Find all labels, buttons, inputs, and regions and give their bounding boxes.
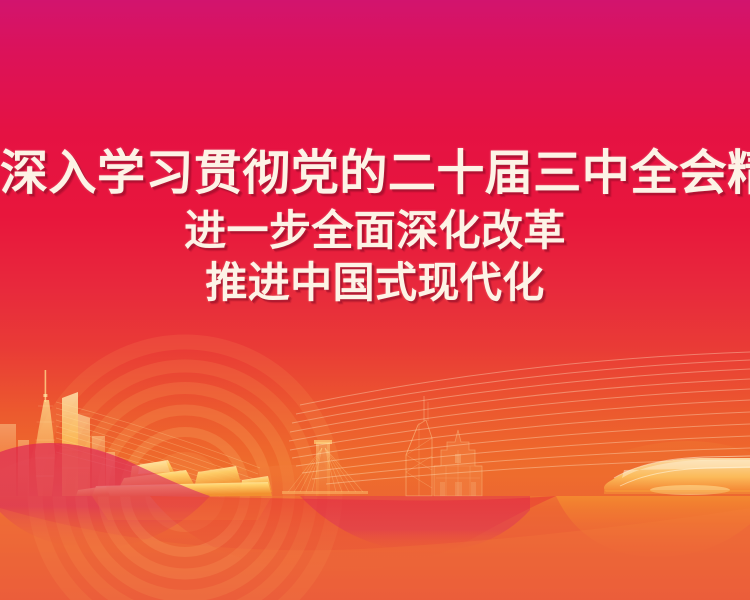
ruins-of-st-pauls-icon — [434, 430, 482, 496]
hill-far-left — [0, 453, 360, 497]
tower-slab-b — [18, 440, 29, 496]
guangzhou-skyline-group — [0, 370, 115, 496]
headline-block: 深入学习贯彻党的二十届三中全会精神 进一步全面深化改革 推进中国式现代化 — [0, 150, 750, 304]
wave-crimson-2 — [300, 496, 530, 552]
headline-line-2: 进一步全面深化改革 — [0, 210, 750, 252]
opera-house-icon — [76, 460, 272, 496]
high-speed-train-icon — [604, 456, 750, 495]
wave-orange — [556, 496, 750, 557]
speed-ribbon-lines-icon — [289, 352, 750, 484]
poster-canvas: 深入学习贯彻党的二十届三中全会精神 进一步全面深化改革 推进中国式现代化 — [0, 0, 750, 600]
headline-line-3: 推进中国式现代化 — [0, 262, 750, 304]
wave-magenta — [0, 443, 210, 548]
cable-stayed-bridge-icon — [282, 440, 368, 496]
ctf-finance-centre-icon — [62, 392, 90, 496]
wave-soft-sheen — [0, 508, 750, 600]
hill-far-right — [360, 441, 750, 497]
tower-slab-d — [106, 452, 115, 496]
wave-reflections — [0, 443, 750, 600]
canton-tower-icon — [35, 370, 55, 496]
tower-slab-c — [92, 436, 105, 496]
headline-line-1: 深入学习贯彻党的二十届三中全会精神 — [0, 150, 750, 198]
reflection-tint — [92, 496, 272, 520]
suspension-bridge-cables-icon — [56, 402, 260, 496]
boc-tower-icon — [406, 396, 432, 496]
sun-rings-icon — [35, 342, 335, 600]
tower-slab-a — [0, 424, 16, 496]
wave-crimson-1 — [150, 496, 556, 571]
ground-baseline — [0, 496, 750, 508]
